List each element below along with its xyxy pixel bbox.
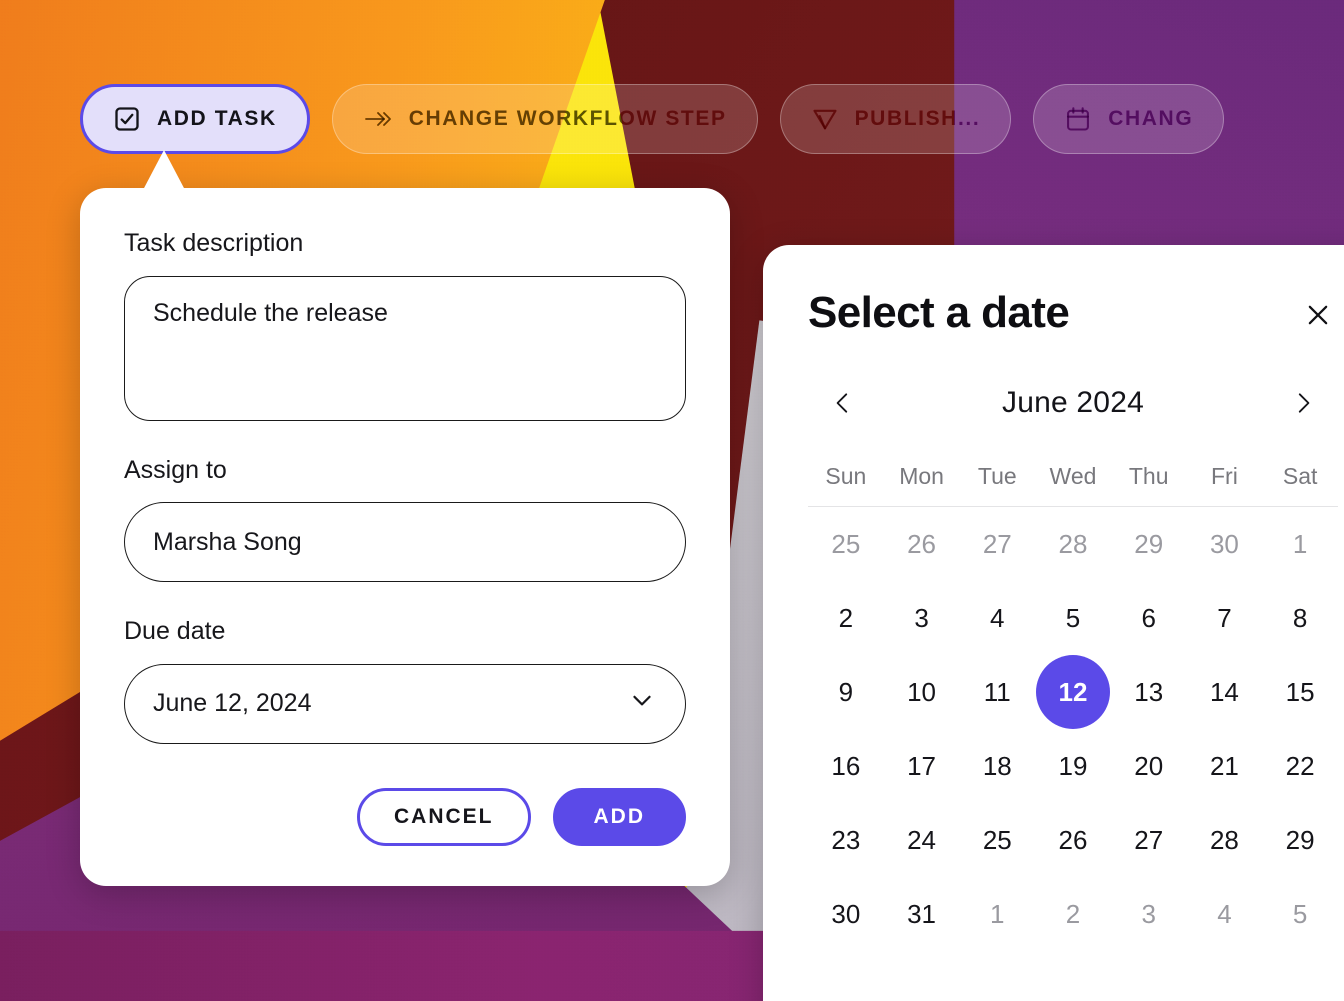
calendar-day-number: 25 (960, 803, 1034, 877)
calendar-day-number: 3 (885, 581, 959, 655)
calendar-icon (1064, 105, 1092, 133)
dialog-actions: Cancel Add (124, 788, 686, 846)
change-workflow-step-label: Change workflow step (409, 107, 727, 131)
calendar-day[interactable]: 27 (959, 507, 1035, 581)
calendar-day-number: 1 (1263, 507, 1337, 581)
change-date-label: Chang (1108, 107, 1193, 131)
spacer-1 (124, 421, 686, 457)
calendar-day[interactable]: 6 (1111, 581, 1187, 655)
calendar-day[interactable]: 23 (808, 803, 884, 877)
calendar-day-number: 23 (809, 803, 883, 877)
calendar-day[interactable]: 14 (1187, 655, 1263, 729)
calendar-day[interactable]: 13 (1111, 655, 1187, 729)
calendar-day-number: 27 (960, 507, 1034, 581)
calendar-day[interactable]: 26 (884, 507, 960, 581)
calendar-day[interactable]: 16 (808, 729, 884, 803)
weekday-label: Tue (959, 463, 1035, 490)
close-icon[interactable] (1298, 295, 1338, 335)
calendar-day-number: 12 (1036, 655, 1110, 729)
weekday-label: Sat (1262, 463, 1338, 490)
chevron-down-icon (627, 685, 657, 722)
calendar-day[interactable]: 21 (1187, 729, 1263, 803)
chevron-right-icon[interactable] (1283, 383, 1323, 423)
calendar-day[interactable]: 1 (959, 877, 1035, 951)
change-workflow-step-button[interactable]: Change workflow step (332, 84, 758, 154)
calendar-day[interactable]: 30 (1187, 507, 1263, 581)
calendar-day[interactable]: 4 (1187, 877, 1263, 951)
calendar-day[interactable]: 18 (959, 729, 1035, 803)
calendar-day[interactable]: 5 (1035, 581, 1111, 655)
calendar-day-number: 21 (1187, 729, 1261, 803)
calendar-day-number: 2 (809, 581, 883, 655)
checkbox-check-icon (113, 105, 141, 133)
current-month-label: June 2024 (1002, 386, 1144, 420)
calendar-day[interactable]: 17 (884, 729, 960, 803)
calendar-day[interactable]: 26 (1035, 803, 1111, 877)
due-date-label: Due date (124, 618, 686, 646)
calendar-day[interactable]: 28 (1035, 507, 1111, 581)
double-arrow-right-icon (363, 107, 393, 131)
calendar-day-number: 19 (1036, 729, 1110, 803)
date-picker-header: Select a date (808, 291, 1338, 335)
weekday-label: Thu (1111, 463, 1187, 490)
calendar-day-number: 25 (809, 507, 883, 581)
calendar-day[interactable]: 22 (1262, 729, 1338, 803)
assign-to-input[interactable]: Marsha Song (124, 502, 686, 582)
calendar-day-number: 1 (960, 877, 1034, 951)
calendar-day[interactable]: 5 (1262, 877, 1338, 951)
calendar-day[interactable]: 2 (808, 581, 884, 655)
change-date-button[interactable]: Chang (1033, 84, 1224, 154)
calendar-day-number: 30 (809, 877, 883, 951)
calendar-day[interactable]: 25 (808, 507, 884, 581)
dialog-pointer-tail (143, 150, 185, 190)
calendar-day-number: 30 (1187, 507, 1261, 581)
calendar-day[interactable]: 3 (884, 581, 960, 655)
due-date-select[interactable]: June 12, 2024 (124, 664, 686, 744)
calendar-day-number: 14 (1187, 655, 1261, 729)
send-icon (811, 105, 839, 133)
calendar-day[interactable]: 31 (884, 877, 960, 951)
calendar-day[interactable]: 3 (1111, 877, 1187, 951)
calendar-day[interactable]: 8 (1262, 581, 1338, 655)
calendar-day-number: 5 (1263, 877, 1337, 951)
weekday-label: Fri (1187, 463, 1263, 490)
task-description-label: Task description (124, 230, 686, 258)
calendar-day-number: 10 (885, 655, 959, 729)
calendar-day[interactable]: 24 (884, 803, 960, 877)
add-task-label: Add task (157, 107, 277, 131)
add-task-dialog: Task description Schedule the release As… (80, 188, 730, 886)
calendar-day[interactable]: 29 (1111, 507, 1187, 581)
date-picker-panel: Select a date June 2024 Su (763, 245, 1344, 1001)
calendar-day-number: 24 (885, 803, 959, 877)
calendar-day-number: 29 (1263, 803, 1337, 877)
task-description-input[interactable]: Schedule the release (124, 276, 686, 421)
calendar-day[interactable]: 29 (1262, 803, 1338, 877)
calendar-day[interactable]: 30 (808, 877, 884, 951)
spacer-2 (124, 582, 686, 618)
calendar-day[interactable]: 19 (1035, 729, 1111, 803)
calendar-day-number: 11 (960, 655, 1034, 729)
calendar-day-selected[interactable]: 12 (1035, 655, 1111, 729)
calendar-day-number: 29 (1112, 507, 1186, 581)
calendar-day[interactable]: 7 (1187, 581, 1263, 655)
calendar-day[interactable]: 10 (884, 655, 960, 729)
assign-to-label: Assign to (124, 457, 686, 485)
calendar-day-number: 6 (1112, 581, 1186, 655)
calendar-day[interactable]: 25 (959, 803, 1035, 877)
action-toolbar: Add task Change workflow step Publish... (80, 84, 1224, 154)
calendar-day-number: 5 (1036, 581, 1110, 655)
add-button[interactable]: Add (553, 788, 687, 846)
weekday-header-row: Sun Mon Tue Wed Thu Fri Sat (808, 463, 1338, 507)
calendar-day-number: 16 (809, 729, 883, 803)
calendar-day[interactable]: 15 (1262, 655, 1338, 729)
publish-button[interactable]: Publish... (780, 84, 1012, 154)
calendar-day-number: 9 (809, 655, 883, 729)
chevron-left-icon[interactable] (823, 383, 863, 423)
calendar-day-number: 27 (1112, 803, 1186, 877)
month-navigation: June 2024 (808, 383, 1338, 423)
calendar-day[interactable]: 1 (1262, 507, 1338, 581)
calendar-day-number: 17 (885, 729, 959, 803)
calendar-day[interactable]: 11 (959, 655, 1035, 729)
calendar-day-number: 20 (1112, 729, 1186, 803)
add-task-button[interactable]: Add task (80, 84, 310, 154)
calendar-day-number: 31 (885, 877, 959, 951)
calendar-day-number: 2 (1036, 877, 1110, 951)
calendar-day[interactable]: 27 (1111, 803, 1187, 877)
calendar-day-number: 3 (1112, 877, 1186, 951)
app-root: Add task Change workflow step Publish... (0, 0, 1344, 1001)
calendar-day[interactable]: 20 (1111, 729, 1187, 803)
calendar-day[interactable]: 9 (808, 655, 884, 729)
calendar-day[interactable]: 4 (959, 581, 1035, 655)
calendar-day-number: 4 (960, 581, 1034, 655)
calendar-day-number: 26 (1036, 803, 1110, 877)
calendar-day-number: 13 (1112, 655, 1186, 729)
date-picker-title: Select a date (808, 291, 1069, 335)
calendar-day-number: 8 (1263, 581, 1337, 655)
weekday-label: Sun (808, 463, 884, 490)
calendar-day-grid: 2526272829301234567891011121314151617181… (808, 507, 1338, 951)
publish-label: Publish... (855, 107, 981, 131)
calendar-day-number: 7 (1187, 581, 1261, 655)
due-date-value: June 12, 2024 (153, 689, 311, 718)
weekday-label: Wed (1035, 463, 1111, 490)
weekday-label: Mon (884, 463, 960, 490)
calendar-day[interactable]: 28 (1187, 803, 1263, 877)
calendar-day-number: 26 (885, 507, 959, 581)
calendar-day-number: 28 (1036, 507, 1110, 581)
cancel-button[interactable]: Cancel (357, 788, 531, 846)
calendar-day[interactable]: 2 (1035, 877, 1111, 951)
calendar-day-number: 18 (960, 729, 1034, 803)
calendar-day-number: 22 (1263, 729, 1337, 803)
calendar-day-number: 4 (1187, 877, 1261, 951)
calendar-day-number: 28 (1187, 803, 1261, 877)
calendar-day-number: 15 (1263, 655, 1337, 729)
